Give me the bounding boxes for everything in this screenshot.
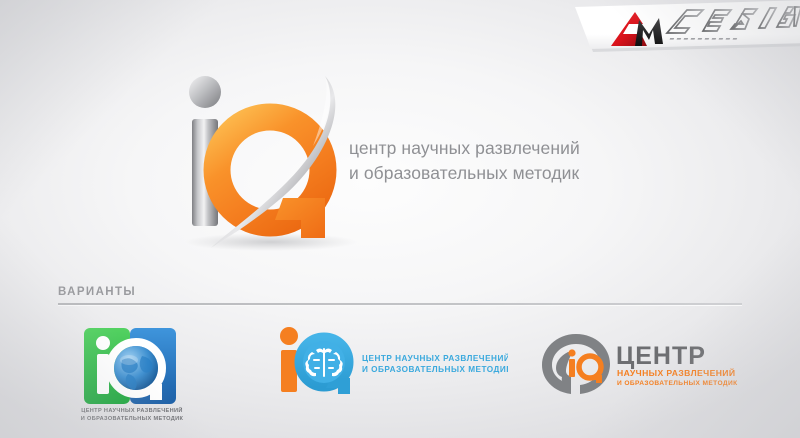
hero-tagline-line-1: центр научных развлечений [349,136,679,161]
variant-head-caption-line-1: НАУЧНЫХ РАЗВЛЕЧЕНИЙ [617,367,735,378]
logo-letter-i-dot [189,76,221,108]
variants-header: ВАРИАНТЫ [58,286,742,306]
variant-globe-graphic: i Q [66,326,194,406]
variant-brain-graphic: ЦЕНТР НАУЧНЫХ РАЗВЛЕЧЕНИЙ И ОБРАЗОВАТЕЛЬ… [276,326,508,396]
hero-tagline: центр научных развлечений и образователь… [349,136,679,186]
variant-globe-icon [114,346,158,390]
iq-primary-mark-graphic: i Q [175,70,365,255]
variant-head-graphic: ЦЕНТР НАУЧНЫХ РАЗВЛЕЧЕНИЙ И ОБРАЗОВАТЕЛЬ… [538,332,738,396]
variant-globe-caption: ЦЕНТР НАУЧНЫХ РАЗВЛЕЧЕНИЙ И ОБРАЗОВАТЕЛЬ… [70,408,194,423]
variants-divider [58,303,742,306]
variant-brain-caption-line-2: И ОБРАЗОВАТЕЛЬНЫХ МЕТОДИК [362,365,508,374]
logo-presentation-canvas: A M DESIGN CREATIVITY [0,0,800,438]
am-design-badge: A M DESIGN CREATIVITY [563,0,800,58]
am-design-badge-graphic: A M DESIGN CREATIVITY [563,0,800,58]
variant-head-letter-q [579,356,602,383]
variant-head[interactable]: ЦЕНТР НАУЧНЫХ РАЗВЛЕЧЕНИЙ И ОБРАЗОВАТЕЛЬ… [538,332,738,396]
hero-logo-block: i Q центр научных развлечений и образова… [0,62,800,262]
variant-globe-caption-line-2: И ОБРАЗОВАТЕЛЬНЫХ МЕТОДИК [70,416,194,424]
logo-letter-q [217,117,325,238]
variant-brain-caption: ЦЕНТР НАУЧНЫХ РАЗВЛЕЧЕНИЙ И ОБРАЗОВАТЕЛЬ… [362,352,508,374]
variant-brain-icon [303,341,345,383]
variants-label: ВАРИАНТЫ [58,286,742,298]
variant-globe-caption-line-1: ЦЕНТР НАУЧНЫХ РАЗВЛЕЧЕНИЙ [70,408,194,416]
variant-brain-caption-line-1: ЦЕНТР НАУЧНЫХ РАЗВЛЕЧЕНИЙ [362,352,508,363]
variant-head-letter-i [568,349,575,377]
variant-head-caption-line-2: И ОБРАЗОВАТЕЛЬНЫХ МЕТОДИК [617,380,738,387]
hero-tagline-line-2: и образовательных методик [349,161,679,186]
variant-brain[interactable]: ЦЕНТР НАУЧНЫХ РАЗВЛЕЧЕНИЙ И ОБРАЗОВАТЕЛЬ… [276,326,508,396]
variant-head-word-center: ЦЕНТР [616,342,706,370]
variant-globe[interactable]: i Q ЦЕНТР НАУЧНЫХ РАЗВЛЕЧЕНИЙ И ОБРАЗОВА… [66,326,194,432]
iq-primary-mark: i Q [175,70,365,255]
